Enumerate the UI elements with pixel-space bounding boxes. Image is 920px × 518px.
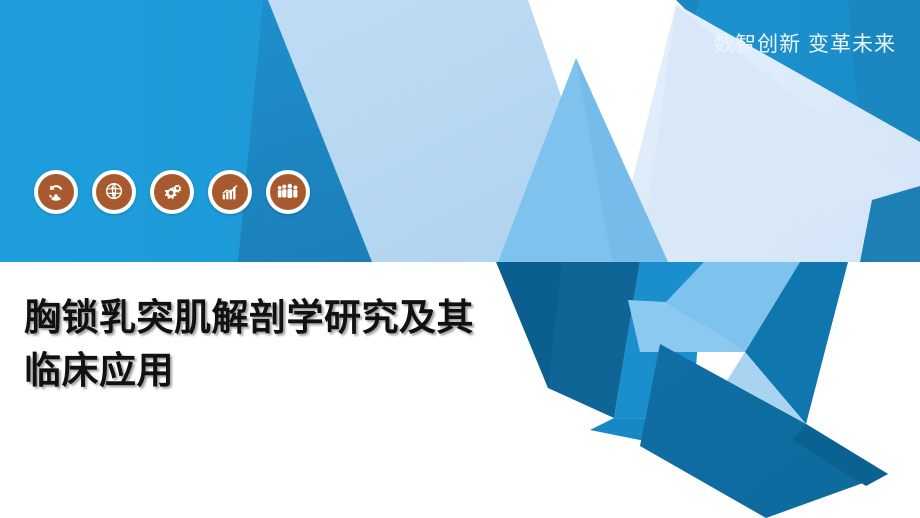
page-title-line-2: 临床应用 <box>24 345 564 398</box>
recycle-arrows-icon <box>38 174 74 210</box>
page-title: 胸锁乳突肌解剖学研究及其 临床应用 <box>24 292 564 397</box>
globe-icon <box>96 174 132 210</box>
bar-chart-icon <box>212 174 248 210</box>
icon-row <box>34 170 310 214</box>
icon-badge-people[interactable] <box>266 170 310 214</box>
presentation-slide: 数智创新 变革未来 <box>0 0 920 518</box>
people-group-icon <box>270 174 306 210</box>
icon-badge-recycle[interactable] <box>34 170 78 214</box>
icon-badge-bar-chart[interactable] <box>208 170 252 214</box>
page-title-line-1: 胸锁乳突肌解剖学研究及其 <box>24 292 564 345</box>
low-poly-background-graphic <box>0 0 920 518</box>
icon-badge-gears[interactable] <box>150 170 194 214</box>
icon-badge-globe[interactable] <box>92 170 136 214</box>
tagline-text: 数智创新 变革未来 <box>713 28 896 58</box>
gears-icon <box>154 174 190 210</box>
